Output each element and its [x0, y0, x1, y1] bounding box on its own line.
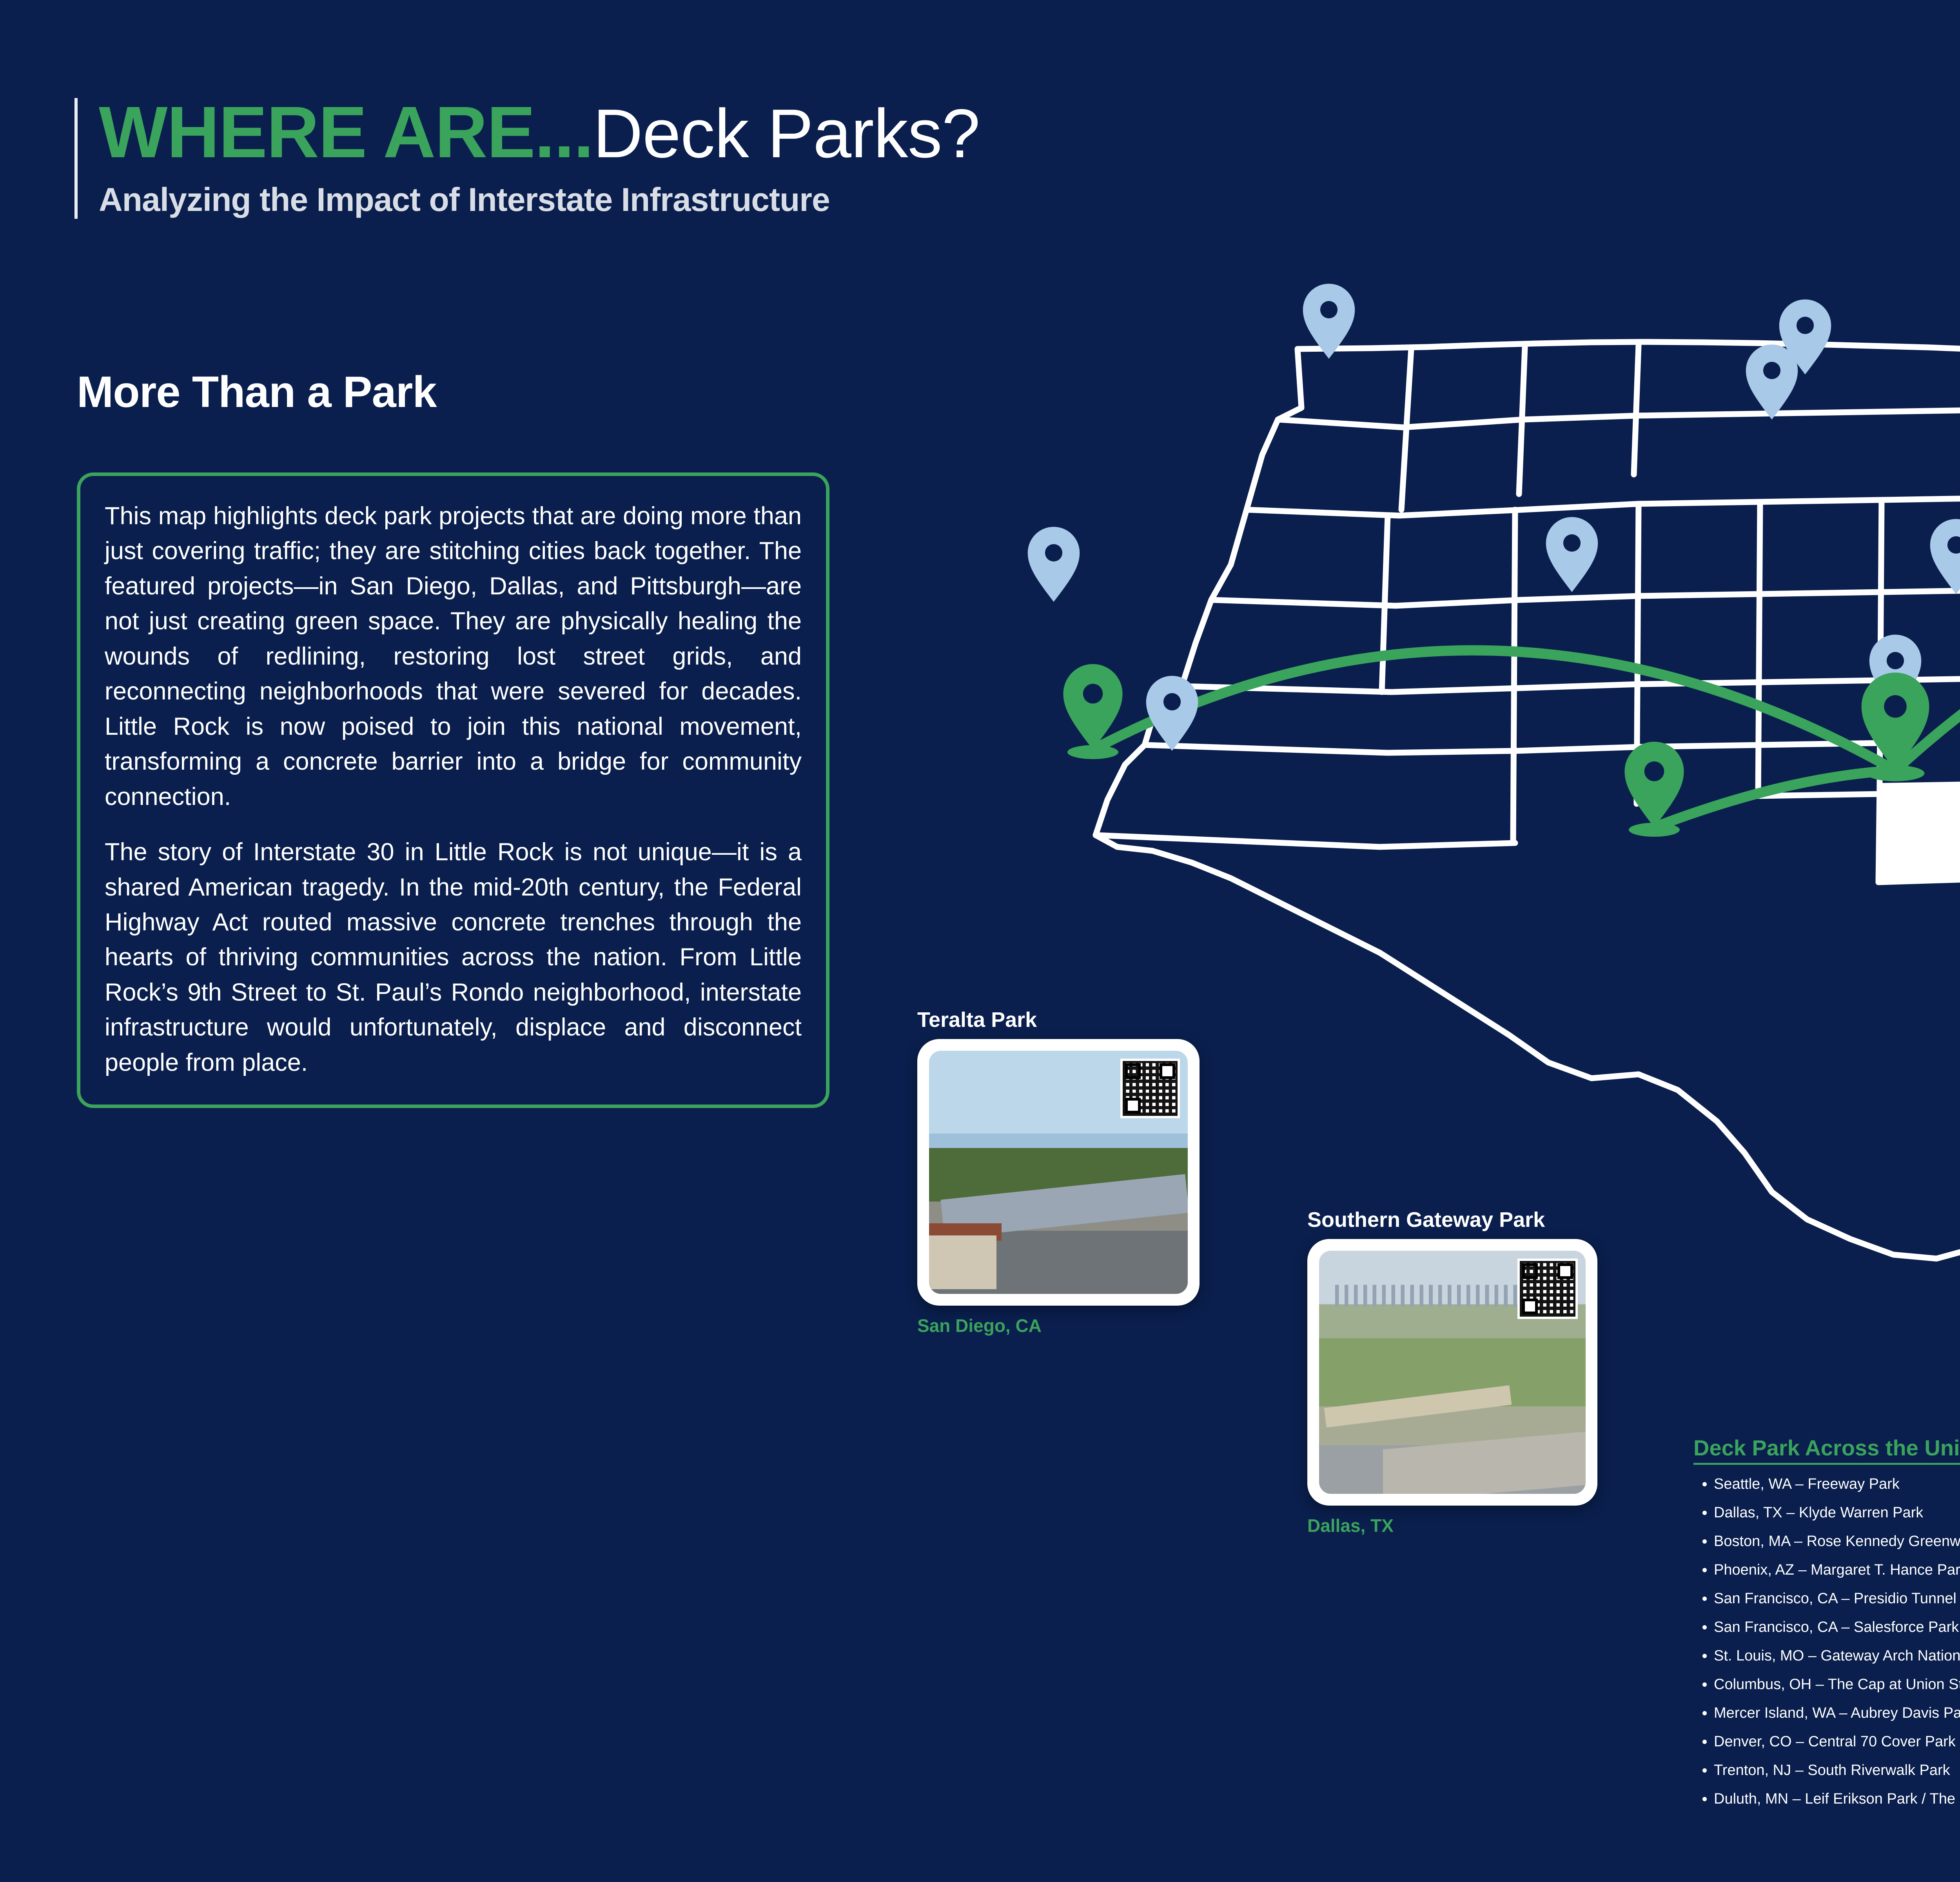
photo-card-city: San Diego, CA: [917, 1315, 1200, 1336]
highlighted-state-arkansas: [1880, 782, 1960, 883]
photo-card-title: Teralta Park: [917, 1008, 1200, 1032]
header-text-block: WHERE ARE... Deck Parks? Analyzing the I…: [99, 98, 980, 219]
deck-park-list-heading: Deck Park Across the United States: [1693, 1435, 1960, 1465]
qr-code-icon[interactable]: [1120, 1059, 1180, 1118]
photo-card-southern-gateway-park[interactable]: Southern Gateway Park Dallas, TX: [1307, 1208, 1597, 1536]
photo-card-title: Southern Gateway Park: [1307, 1208, 1597, 1232]
map-state-outlines: [1096, 342, 1960, 1259]
map-pin-san-diego-ca[interactable]: [1063, 664, 1122, 759]
map-pin-minneapolis-mn[interactable]: [1746, 345, 1798, 420]
poster-header: WHERE ARE... Deck Parks? Analyzing the I…: [74, 98, 980, 219]
photo-teralta-park: [929, 1051, 1188, 1294]
header-accent-rule: [74, 98, 78, 219]
list-item: San Francisco, CA – Presidio Tunnel Tops: [1714, 1591, 1960, 1606]
photo-path: [1324, 1385, 1511, 1427]
map-pin-san-francisco-ca[interactable]: [1028, 527, 1080, 602]
map-pin-chicago-il[interactable]: [1930, 519, 1960, 594]
map-pin-little-rock-ar[interactable]: [1862, 672, 1929, 781]
photo-southern-gateway-park: [1319, 1251, 1586, 1494]
story-callout-box: This map highlights deck park projects t…: [77, 472, 829, 1108]
list-item: Columbus, OH – The Cap at Union Station: [1714, 1677, 1960, 1692]
page-subtitle: Analyzing the Impact of Interstate Infra…: [99, 181, 980, 219]
map-pin-denver-co[interactable]: [1546, 517, 1598, 592]
qr-code-icon[interactable]: [1517, 1259, 1578, 1319]
photo-card-teralta-park[interactable]: Teralta Park San Diego, CA: [917, 1008, 1200, 1336]
map-pin-phoenix-az[interactable]: [1146, 676, 1198, 751]
arc-dallas-to-little-rock: [1654, 770, 1895, 827]
photo-house: [929, 1235, 996, 1289]
photo-wall: [1383, 1431, 1586, 1494]
deck-park-list-column-left: Seattle, WA – Freeway Park Dallas, TX – …: [1693, 1477, 1960, 1820]
list-item: Boston, MA – Rose Kennedy Greenway: [1714, 1534, 1960, 1549]
list-item: Mercer Island, WA – Aubrey Davis Park: [1714, 1706, 1960, 1720]
list-item: Dallas, TX – Klyde Warren Park: [1714, 1505, 1960, 1520]
photo-card-city: Dallas, TX: [1307, 1515, 1597, 1536]
page-title: WHERE ARE... Deck Parks?: [99, 98, 980, 167]
list-item: St. Louis, MO – Gateway Arch National Pa…: [1714, 1648, 1960, 1663]
list-item: Seattle, WA – Freeway Park: [1714, 1477, 1960, 1491]
poster-canvas: WHERE ARE... Deck Parks? Analyzing the I…: [0, 0, 1960, 1882]
photo-card-frame: [1307, 1239, 1597, 1506]
page-title-highlight: WHERE ARE...: [99, 98, 593, 167]
photo-card-frame: [917, 1039, 1200, 1306]
section-heading-more-than-a-park: More Than a Park: [77, 367, 437, 417]
story-paragraph-1: This map highlights deck park projects t…: [105, 499, 802, 814]
list-item: Duluth, MN – Leif Erikson Park / The Lak…: [1714, 1791, 1960, 1806]
deck-park-list-left: Seattle, WA – Freeway Park Dallas, TX – …: [1693, 1477, 1960, 1806]
page-title-rest: Deck Parks?: [593, 101, 980, 167]
deck-park-list-columns: Seattle, WA – Freeway Park Dallas, TX – …: [1693, 1477, 1960, 1820]
list-item: Denver, CO – Central 70 Cover Park: [1714, 1734, 1960, 1749]
deck-park-list-block: Deck Park Across the United States Seatt…: [1693, 1435, 1960, 1820]
list-item: San Francisco, CA – Salesforce Park: [1714, 1620, 1960, 1635]
story-paragraph-2: The story of Interstate 30 in Little Roc…: [105, 835, 802, 1080]
list-item: Phoenix, AZ – Margaret T. Hance Park: [1714, 1562, 1960, 1577]
list-item: Trenton, NJ – South Riverwalk Park: [1714, 1763, 1960, 1778]
